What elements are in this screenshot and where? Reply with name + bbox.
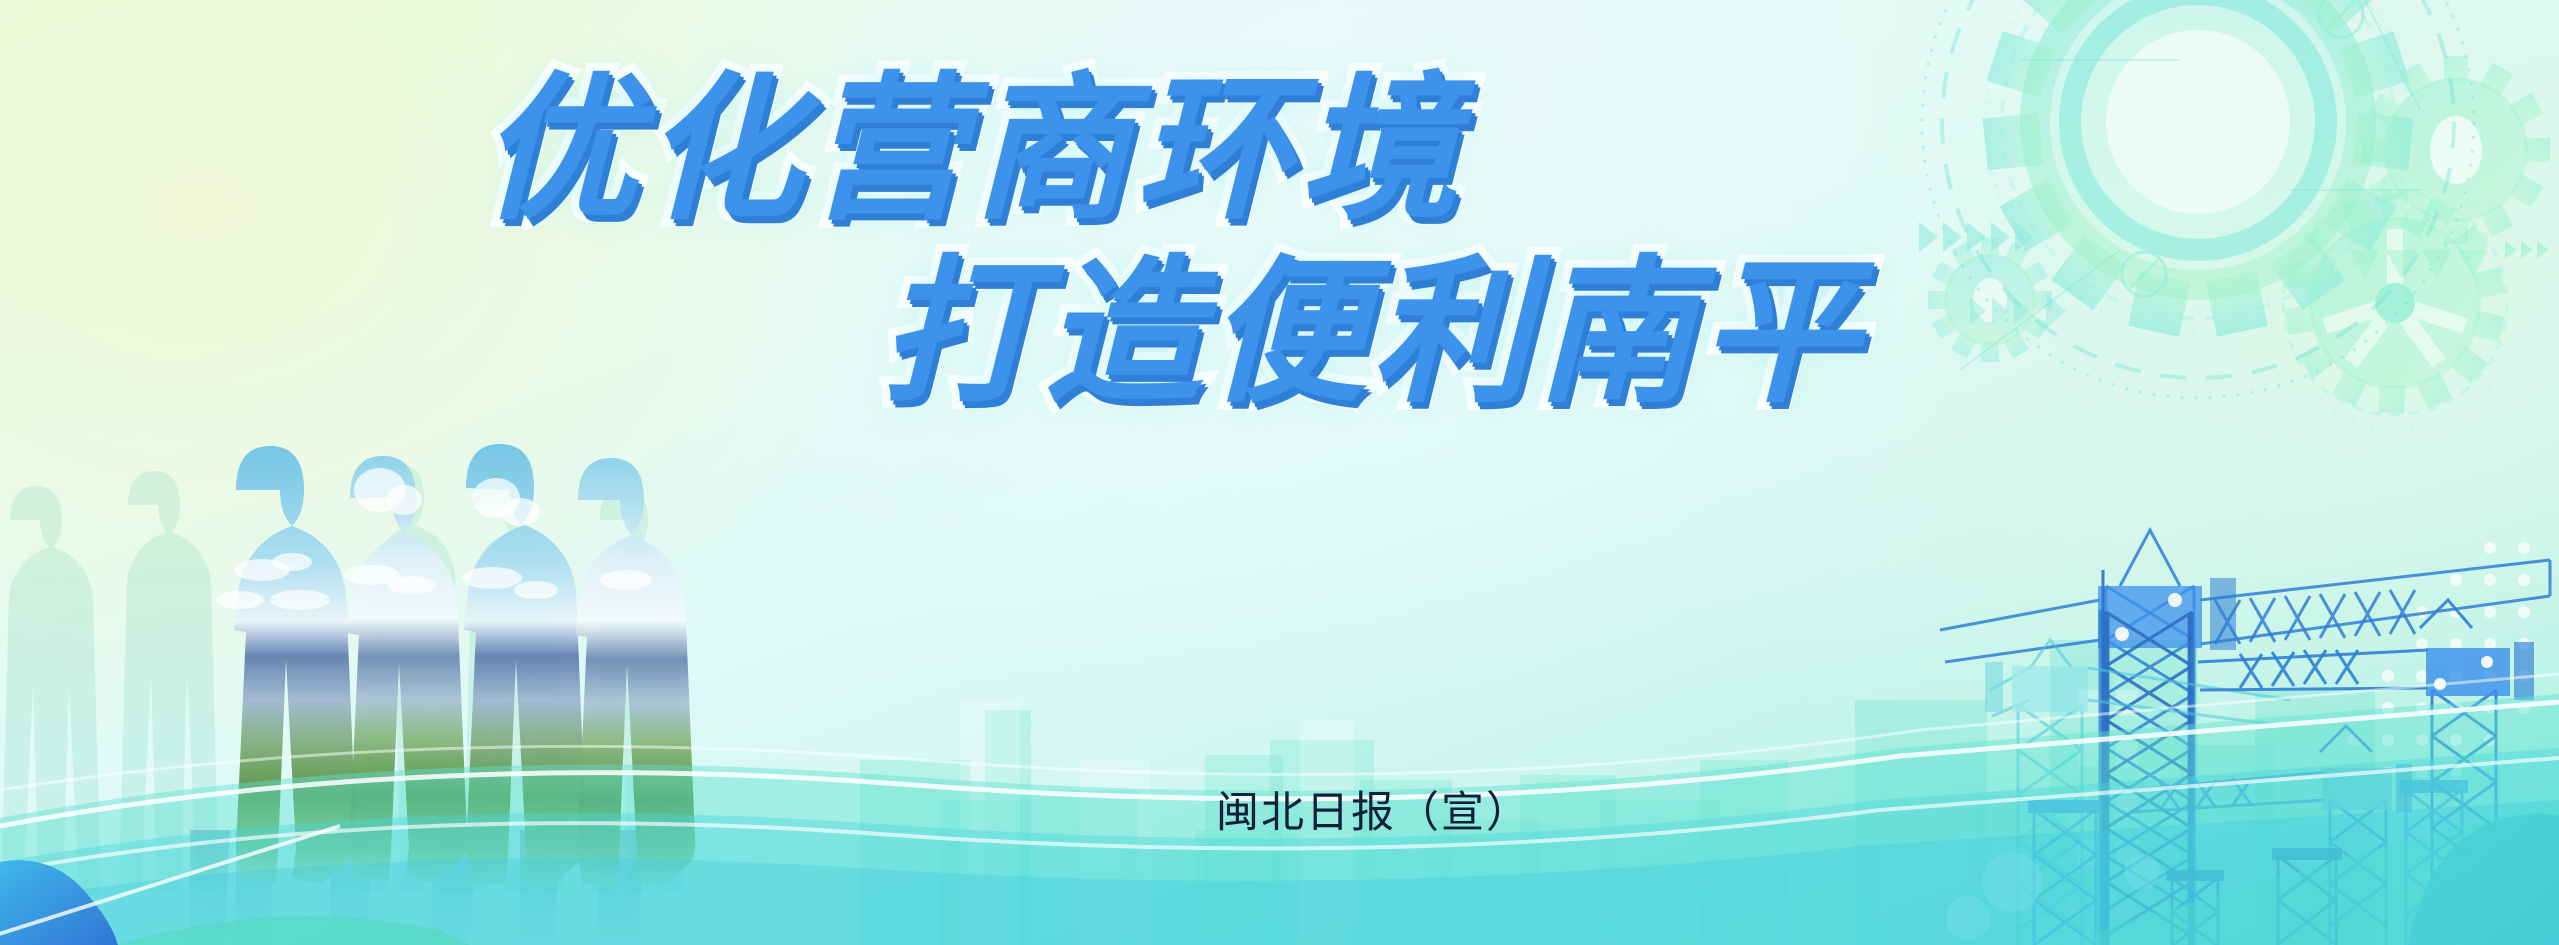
chevron-right-icon: [1919, 222, 2034, 252]
chevron-right-icon: [2505, 241, 2549, 259]
publisher-credit: 闽北日报（宣）: [1216, 778, 1531, 840]
gear-icon: [1928, 238, 2052, 362]
promotional-banner: 优化营商环境 打造便利南平 闽北日报（宣）: [0, 0, 2559, 945]
